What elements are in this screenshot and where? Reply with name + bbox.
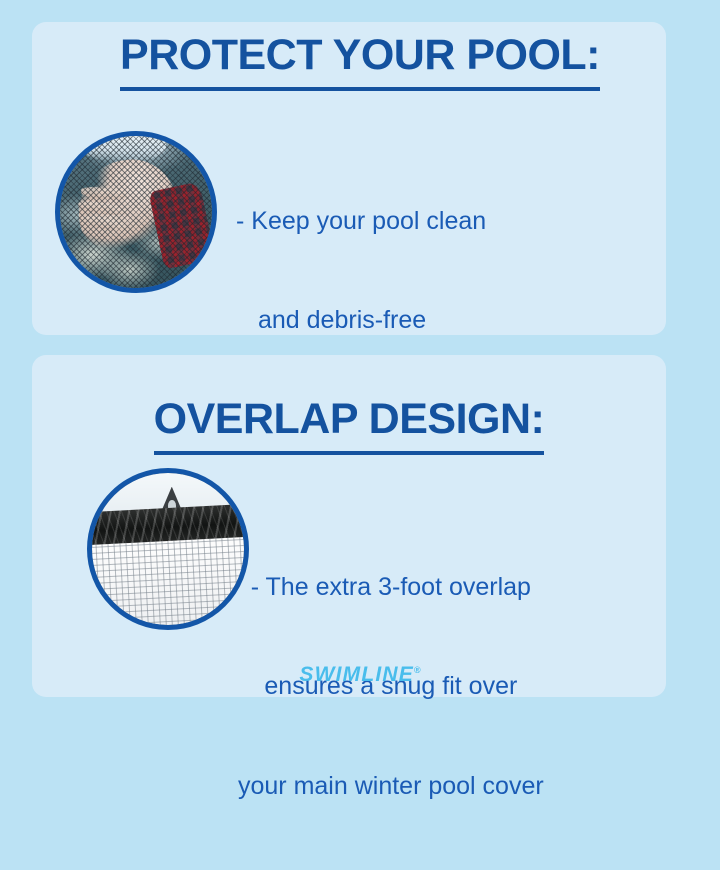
- white-mesh-panel: [92, 537, 244, 625]
- cover-overlap-edge-closeup-photo: [87, 468, 249, 630]
- mesh-net-overlay: [60, 136, 212, 288]
- page-title-overlap: OVERLAP DESIGN:: [154, 398, 545, 455]
- page-title-protect: PROTECT YOUR POOL:: [120, 34, 600, 91]
- photo-inner-protect: [60, 136, 212, 288]
- headline-overlap-container: OVERLAP DESIGN:: [32, 398, 666, 455]
- bullet-line: your main winter pool cover: [238, 770, 544, 803]
- brand-logo-text: SWIMLINE: [299, 663, 414, 686]
- infographic-page: PROTECT YOUR POOL: - Keep your pool clea…: [0, 0, 720, 720]
- registered-trademark-icon: ®: [414, 665, 421, 675]
- headline-protect-container: PROTECT YOUR POOL:: [0, 34, 720, 91]
- bullet-line: - Keep your pool clean: [236, 205, 496, 238]
- photo-inner-overlap: [92, 473, 244, 625]
- bullet-line: and debris-free: [236, 304, 496, 337]
- brand-logo: SWIMLINE®: [299, 663, 420, 687]
- brand-logo-container: SWIMLINE®: [0, 663, 720, 687]
- hand-pressing-mesh-leaf-net-photo: [55, 131, 217, 293]
- bullet-line: - The extra 3-foot overlap: [238, 571, 544, 604]
